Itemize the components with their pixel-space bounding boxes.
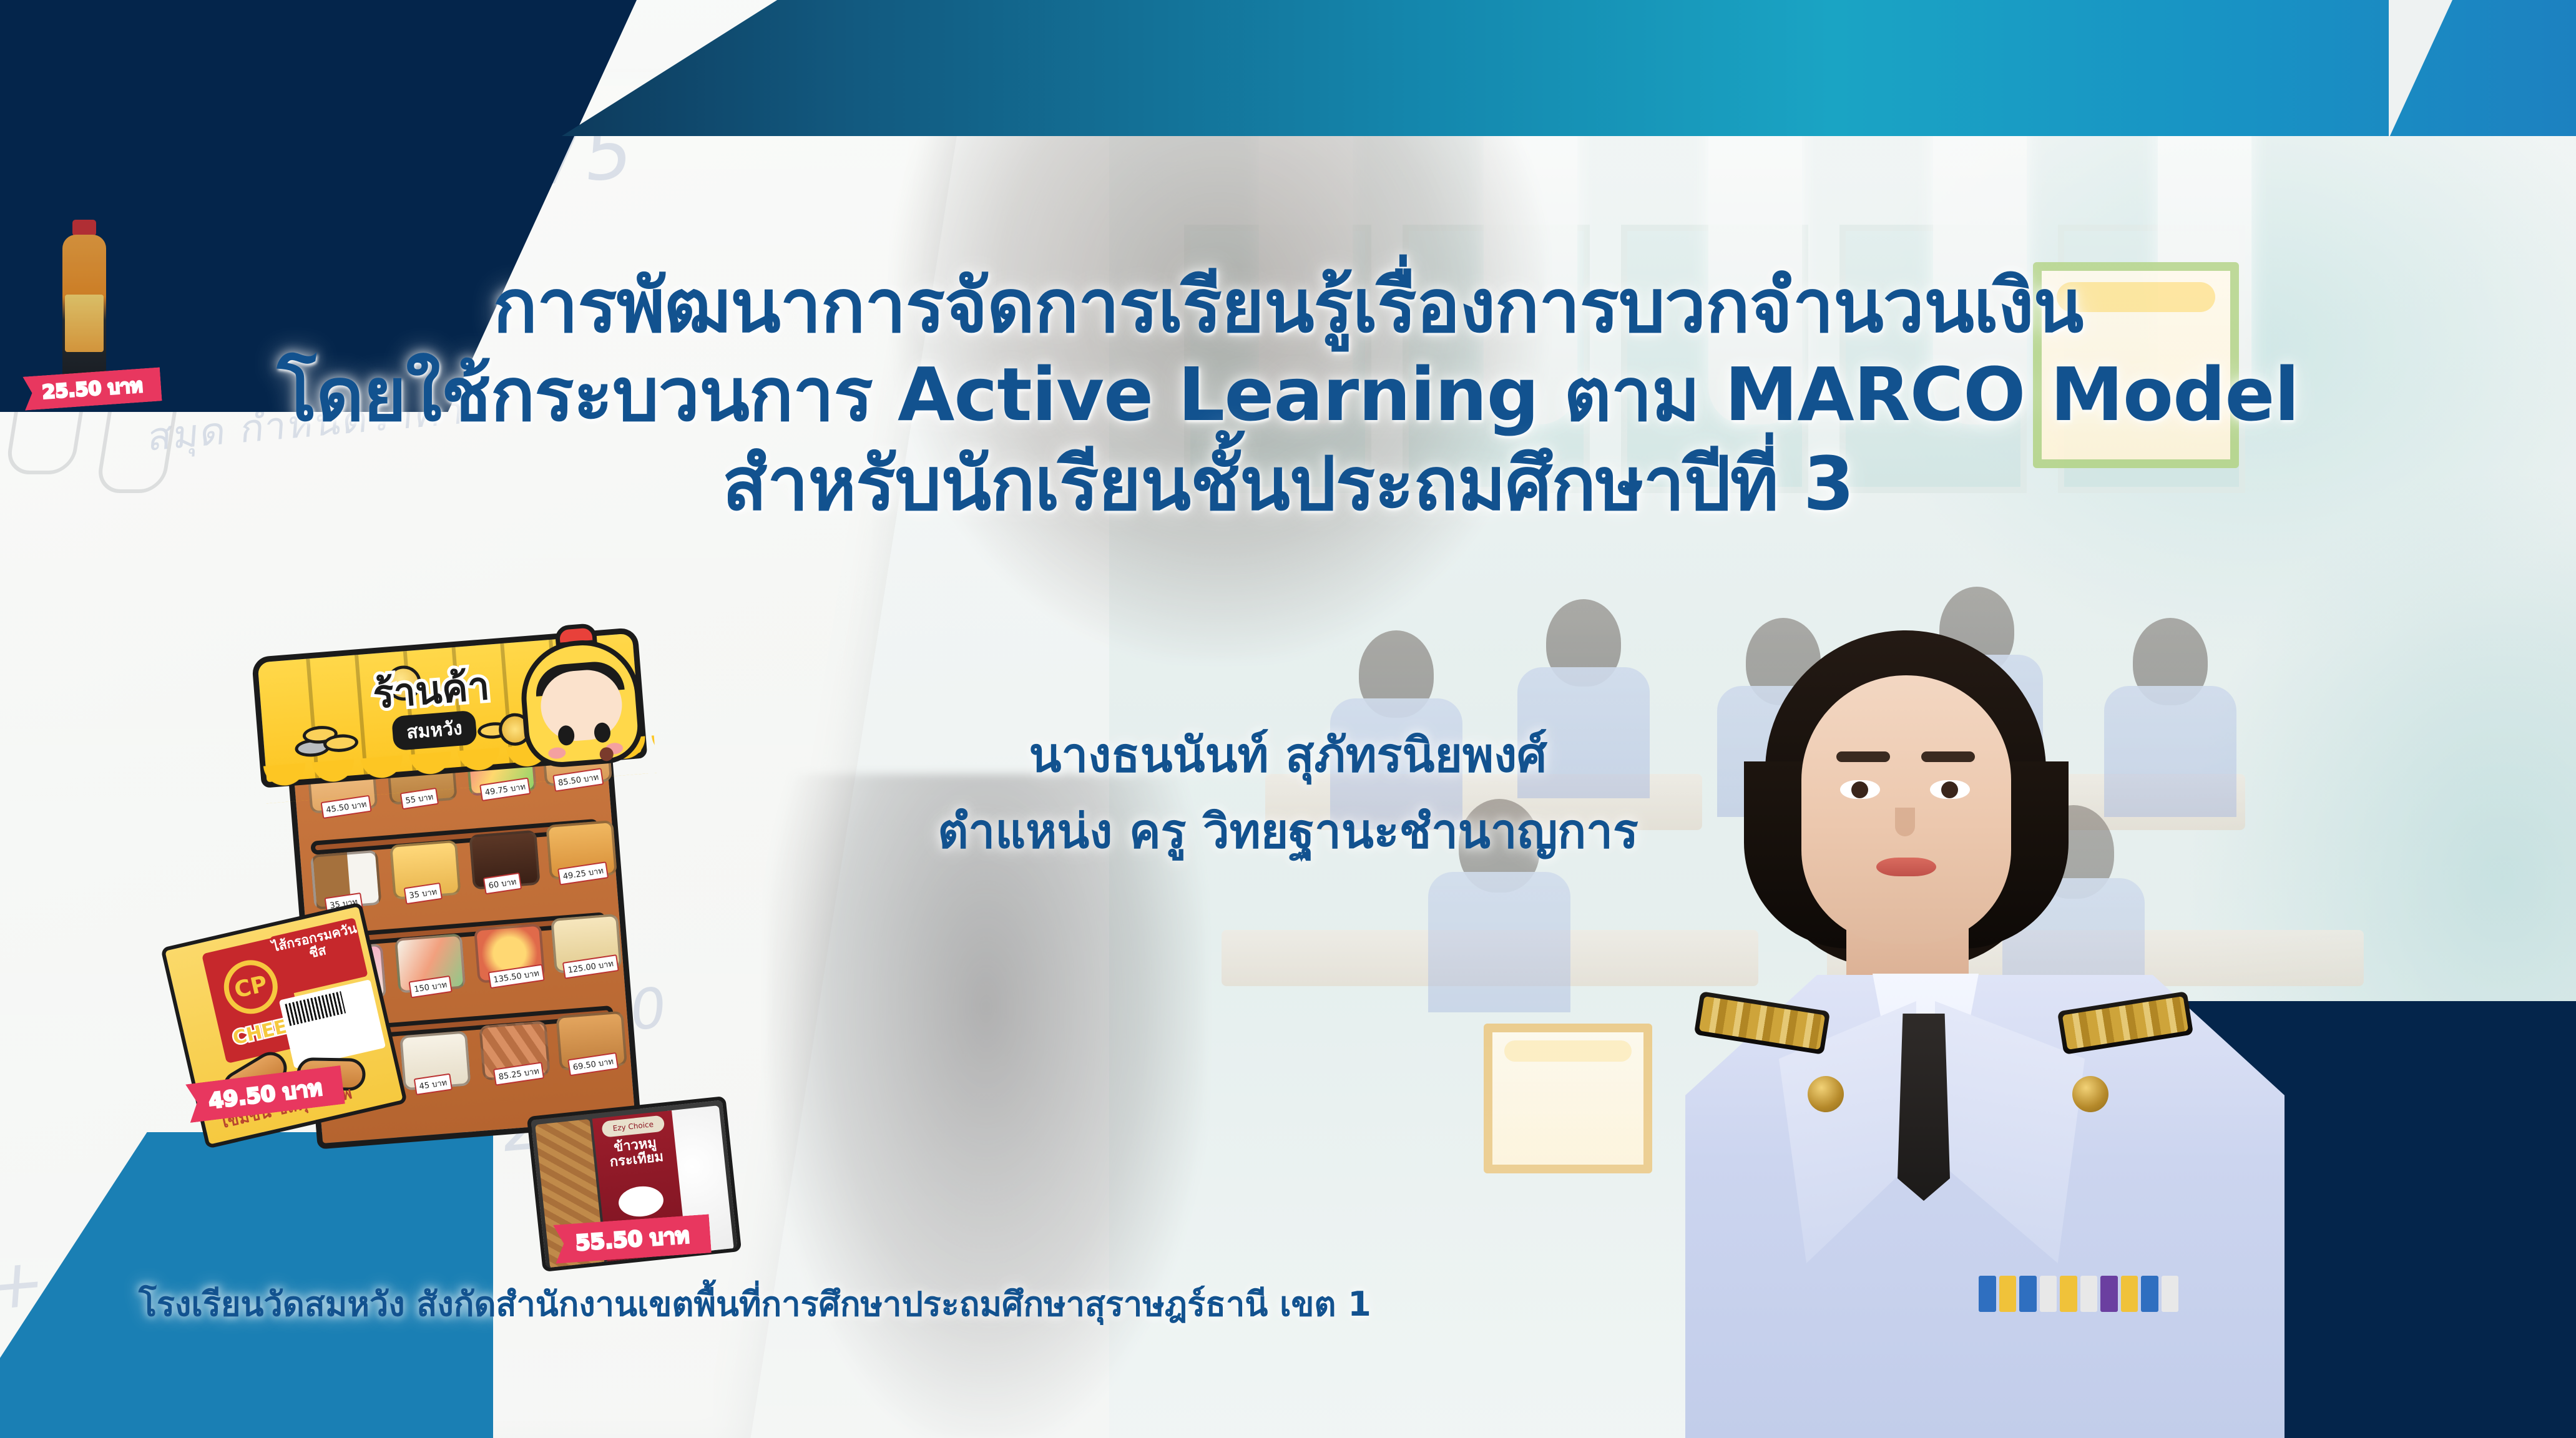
teacher-portrait [1685, 602, 2285, 1438]
collar-pin-right-icon [2072, 1076, 2108, 1112]
teal-banner-top [562, 0, 2576, 136]
rice-brand: Ezy Choice [601, 1115, 665, 1138]
poster-canvas: 25 + 7 75 สมุด กำหนดราคา 125 100 25 35.5… [0, 0, 2576, 1438]
author-name: นางธนนันท์ สุภัทรนิยพงศ์ [0, 730, 2576, 780]
school-affiliation: โรงเรียนวัดสมหวัง สังกัดสำนักงานเขตพื้นท… [139, 1277, 1371, 1331]
cp-brand-logo: CP [218, 955, 283, 1019]
title-line-2: โดยใช้กระบวนการ Active Learning ตาม MARC… [0, 357, 2576, 432]
teacher-necktie [1898, 1014, 1950, 1201]
author-position: ตำแหน่ง ครู วิทยฐานะชำนาญการ [0, 806, 2576, 856]
rice-product-name: ข้าวหมูกระเทียม [599, 1135, 673, 1171]
title-line-3: สำหรับนักเรียนชั้นประถมศึกษาปีที่ 3 [0, 446, 2576, 521]
medal-ribbon-bar [1979, 1276, 2178, 1312]
collar-pin-left-icon [1808, 1076, 1844, 1112]
poster-title: การพัฒนาการจัดการเรียนรู้เรื่องการบวกจำน… [0, 268, 2576, 521]
author-info: นางธนนันท์ สุภัทรนิยพงศ์ ตำแหน่ง ครู วิท… [0, 730, 2576, 856]
barcode-icon [285, 991, 346, 1026]
title-line-1: การพัฒนาการจัดการเรียนรู้เรื่องการบวกจำน… [0, 268, 2576, 343]
